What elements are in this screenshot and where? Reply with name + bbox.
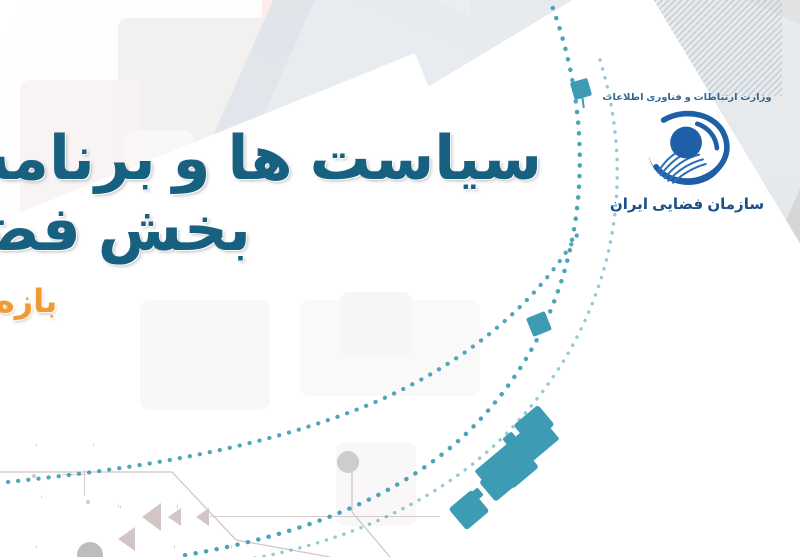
arrow-head [168,508,181,526]
hex-node [86,500,90,504]
organization-name: سازمان فضایی ایران [602,195,772,213]
hex-connector [62,474,86,475]
logo-block: وزارت ارتباطات و فناوری اطلاعات [602,92,772,213]
iran-space-agency-logo [635,107,739,193]
satellite-small-icon [570,78,598,108]
satellite-icon [468,404,588,534]
poster-canvas: سیاست ها و برنامه های کلان بخش فضایی کشو… [0,0,800,557]
subtitle-date-range: بازه زمانی ۱۴۰۱ تا ۱۴۱۰ [0,282,542,320]
hex-node [32,474,36,478]
arrow-head [118,527,135,551]
title-line-2: بخش فضایی کشور [0,199,542,260]
ministry-name: وزارت ارتباطات و فناوری اطلاعات [602,92,772,102]
arrow-line [210,516,440,517]
title-block: سیاست ها و برنامه های کلان بخش فضایی کشو… [0,128,542,320]
space-agency-emblem-icon [635,107,739,193]
arrow-head [142,503,161,531]
title-line-1: سیاست ها و برنامه های کلان [0,128,542,189]
hex-connector [84,470,85,496]
arrow-head [196,508,209,526]
bg-square [336,442,416,526]
